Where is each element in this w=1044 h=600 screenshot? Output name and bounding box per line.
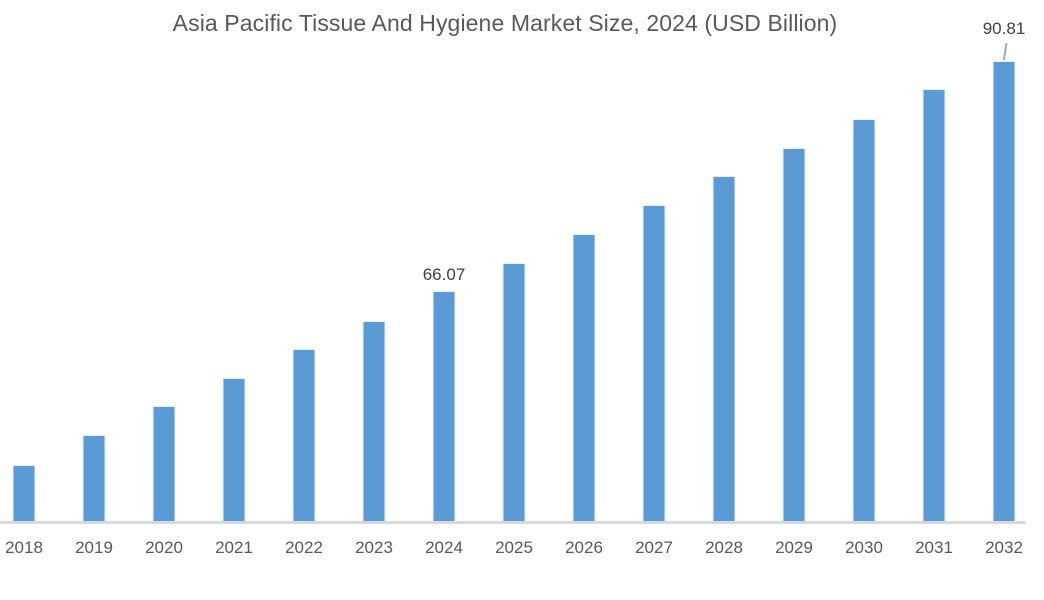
x-axis-tick-label: 2026	[549, 533, 619, 563]
bar-group	[59, 0, 129, 523]
x-axis-tick-label: 2021	[199, 533, 269, 563]
bar-group	[619, 0, 689, 523]
bar-group	[829, 0, 899, 523]
x-axis-tick-label: 2023	[339, 533, 409, 563]
x-axis-tick-label: 2019	[59, 533, 129, 563]
bar-group	[0, 0, 59, 523]
x-axis-tick-label: 2022	[269, 533, 339, 563]
bar-group	[479, 0, 549, 523]
bar-group	[899, 0, 969, 523]
plot-area: 66.0790.81	[0, 0, 1044, 523]
bar[interactable]	[643, 205, 666, 523]
bar[interactable]	[993, 61, 1016, 523]
bar[interactable]	[153, 406, 176, 523]
bar-group: 90.81	[969, 0, 1039, 523]
bar[interactable]	[363, 321, 386, 523]
bar-chart: Asia Pacific Tissue And Hygiene Market S…	[0, 0, 1044, 600]
bar-group	[269, 0, 339, 523]
bar[interactable]	[83, 435, 106, 523]
x-axis-tick-label: 2027	[619, 533, 689, 563]
x-axis-tick-label: 2032	[969, 533, 1039, 563]
x-axis-tick-label: 2018	[0, 533, 59, 563]
bar-group	[549, 0, 619, 523]
bar[interactable]	[573, 234, 596, 523]
x-axis-tick-label: 2020	[129, 533, 199, 563]
bar-group	[689, 0, 759, 523]
bar[interactable]	[433, 291, 456, 523]
x-axis-tick-label: 2025	[479, 533, 549, 563]
x-axis-line	[0, 521, 1026, 524]
bar-group	[339, 0, 409, 523]
bar[interactable]	[923, 89, 946, 523]
bar[interactable]	[783, 148, 806, 523]
bar-group	[199, 0, 269, 523]
data-label-leader-line	[1003, 43, 1007, 60]
bar-group	[129, 0, 199, 523]
bar[interactable]	[13, 465, 36, 523]
bar-group: 66.07	[409, 0, 479, 523]
x-axis-tick-label: 2030	[829, 533, 899, 563]
x-axis-tick-label: 2024	[409, 533, 479, 563]
bar-group	[759, 0, 829, 523]
bar-value-label: 90.81	[983, 19, 1026, 39]
bar[interactable]	[293, 349, 316, 523]
x-axis-tick-label: 2028	[689, 533, 759, 563]
x-axis-tick-label: 2029	[759, 533, 829, 563]
x-axis-tick-label: 2031	[899, 533, 969, 563]
bar-value-label: 66.07	[423, 265, 466, 285]
bar[interactable]	[713, 176, 736, 523]
bar[interactable]	[223, 378, 246, 523]
bar[interactable]	[503, 263, 526, 523]
x-axis-tick-labels: 2018201920202021202220232024202520262027…	[0, 533, 1044, 567]
bar[interactable]	[853, 119, 876, 523]
